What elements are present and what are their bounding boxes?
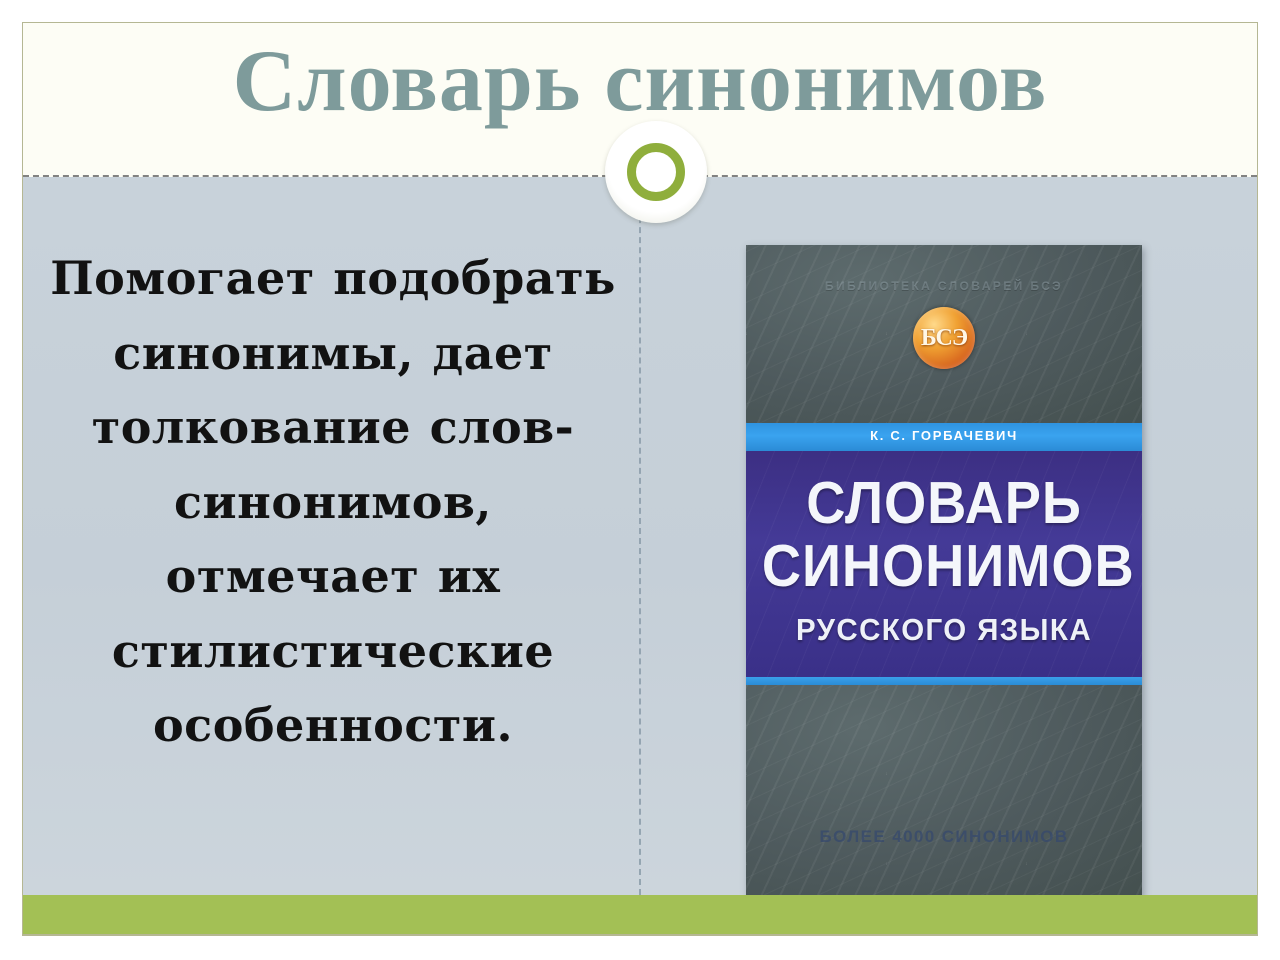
cover-series-line: БИБЛИОТЕКА СЛОВАРЕЙ БСЭ [746, 279, 1142, 293]
publisher-emblem-icon: БСЭ [913, 307, 975, 369]
slide-body-panel: Помогает подобрать синонимы, дает толков… [23, 177, 1257, 895]
footer-accent-bar [23, 895, 1257, 935]
cover-tagline: БОЛЕЕ 4000 СИНОНИМОВ [746, 827, 1142, 847]
lead-paragraph: Помогает подобрать синонимы, дает толков… [43, 241, 623, 763]
circle-ring-icon [627, 143, 685, 201]
slide-frame: Словарь синонимов Помогает подобрать син… [22, 22, 1258, 936]
cover-title-block: СЛОВАРЬ СИНОНИМОВ РУССКОГО ЯЗЫКА [746, 475, 1142, 648]
cover-title-line-1: СЛОВАРЬ [762, 475, 1126, 533]
page-title: Словарь синонимов [23, 31, 1257, 132]
cover-author-name: К. С. ГОРБАЧЕВИЧ [746, 428, 1142, 443]
decorative-ring-badge [605, 121, 707, 223]
cover-bottom-slate-panel [746, 685, 1142, 897]
vertical-divider-dashed [639, 177, 641, 895]
book-cover-image: БИБЛИОТЕКА СЛОВАРЕЙ БСЭ БСЭ К. С. ГОРБАЧ… [746, 245, 1142, 897]
cover-subtitle: РУССКОГО ЯЗЫКА [756, 612, 1132, 648]
cover-blue-rule [746, 677, 1142, 685]
emblem-label: БСЭ [921, 325, 967, 352]
cover-title-line-2: СИНОНИМОВ [762, 538, 1126, 596]
